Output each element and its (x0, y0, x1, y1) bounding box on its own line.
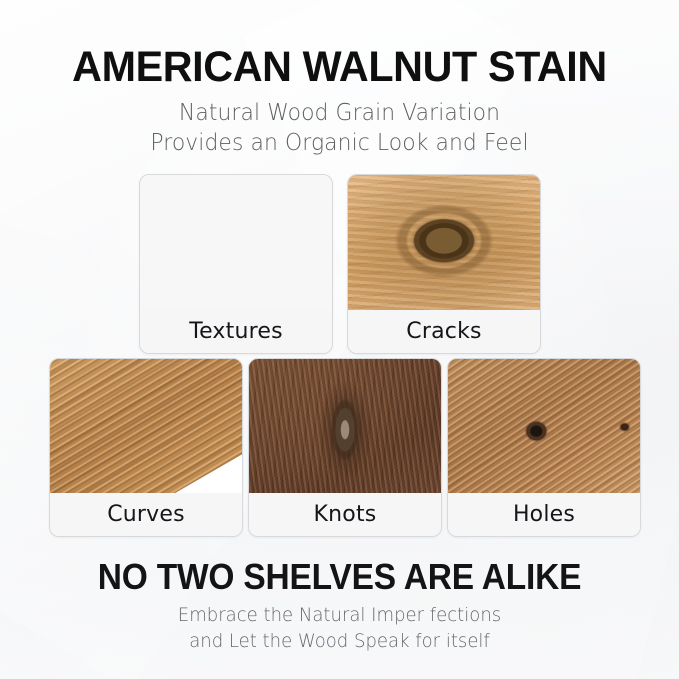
feature-card-cracks[interactable]: Cracks (347, 174, 541, 354)
card-image-cracks (348, 175, 540, 312)
card-image-textures (140, 175, 332, 312)
card-label-textures: Textures (140, 310, 332, 353)
wood-texture-diagonal-plank (50, 359, 242, 495)
feature-card-curves[interactable]: Curves (49, 358, 243, 537)
card-label-cracks: Cracks (348, 310, 540, 353)
wood-texture-dark-walnut (140, 175, 332, 312)
feature-card-knots[interactable]: Knots (248, 358, 442, 537)
wood-texture-reddish-knot (249, 359, 441, 495)
bottom-subtitle-line-1: Embrace the Natural Imper fections (17, 602, 662, 628)
card-label-holes: Holes (448, 493, 640, 536)
card-label-curves: Curves (50, 493, 242, 536)
feature-card-textures[interactable]: Textures (139, 174, 333, 354)
top-headline: AMERICAN WALNUT STAIN (14, 43, 666, 92)
feature-card-holes[interactable]: Holes (447, 358, 641, 537)
wood-texture-light-oak (348, 175, 540, 312)
bottom-subtitle: Embrace the Natural Imper fections and L… (17, 602, 662, 654)
top-subtitle-line-2: Provides an Organic Look and Feel (17, 128, 662, 158)
poster-content: AMERICAN WALNUT STAIN Natural Wood Grain… (0, 0, 679, 679)
card-image-curves (50, 359, 242, 495)
wood-texture-tan-hole (448, 359, 640, 495)
card-image-knots (249, 359, 441, 495)
bottom-subtitle-line-2: and Let the Wood Speak for itself (17, 628, 662, 654)
poster-canvas: AMERICAN WALNUT STAIN Natural Wood Grain… (0, 0, 679, 679)
top-subtitle-line-1: Natural Wood Grain Variation (17, 98, 662, 128)
card-image-holes (448, 359, 640, 495)
plank-shape (50, 359, 242, 495)
top-subtitle: Natural Wood Grain Variation Provides an… (17, 98, 662, 158)
card-label-knots: Knots (249, 493, 441, 536)
bottom-headline: NO TWO SHELVES ARE ALIKE (24, 556, 655, 598)
